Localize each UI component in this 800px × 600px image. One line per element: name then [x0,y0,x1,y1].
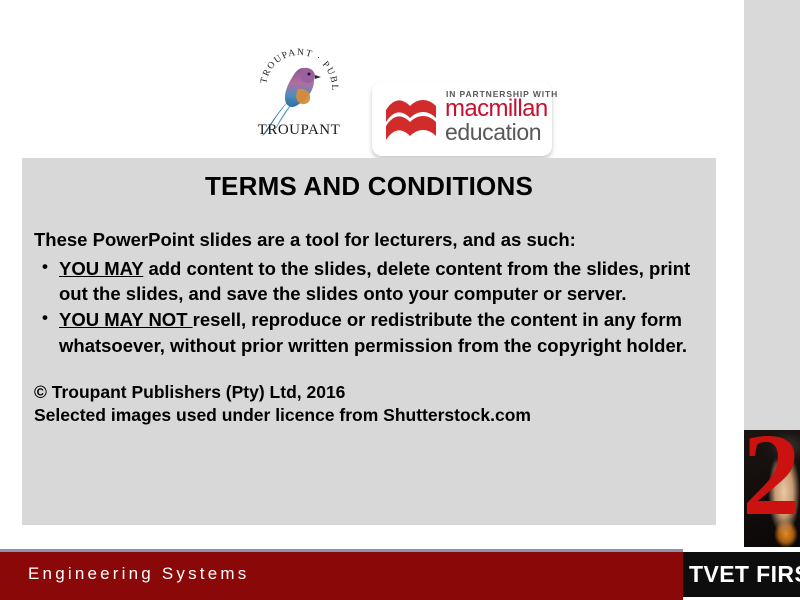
terms-bullet-list: •YOU MAY add content to the slides, dele… [22,252,716,358]
copyright-line: © Troupant Publishers (Pty) Ltd, 2016 [34,381,702,404]
troupant-bird-icon: TROUPANT · PUBLISHERS TROUPANT [246,46,352,142]
troupant-wordmark: TROUPANT [258,122,341,138]
macmillan-flag-icon [384,94,438,144]
list-item: •YOU MAY add content to the slides, dele… [34,256,698,307]
tvet-first-brand-box: TVET FIRST [683,552,800,597]
bullet-marker: • [42,306,48,329]
copyright-block: © Troupant Publishers (Pty) Ltd, 2016 Se… [22,359,716,427]
page-title: TERMS AND CONDITIONS [22,158,716,202]
cover-number: 2 [744,430,798,534]
bullet-lead-emphasis: YOU MAY [59,258,143,279]
cover-image-block: 2 [744,430,800,547]
logo-row: TROUPANT · PUBLISHERS TROUPANT IN PARTN [0,38,744,146]
intro-paragraph: These PowerPoint slides are a tool for l… [22,202,716,252]
bullet-lead-emphasis: YOU MAY NOT [59,309,193,330]
macmillan-name: macmillan [445,98,548,120]
footer-bar: Engineering Systems [0,552,683,600]
list-item: •YOU MAY NOT resell, reproduce or redist… [34,307,698,358]
macmillan-education-logo: IN PARTNERSHIP WITH macmillan education [372,82,552,156]
tvet-first-label: TVET FIRST [689,561,800,588]
bullet-body-text: add content to the slides, delete conten… [59,258,690,304]
bullet-marker: • [42,255,48,278]
image-licence-line: Selected images used under licence from … [34,404,702,427]
terms-and-conditions-panel: TERMS AND CONDITIONS These PowerPoint sl… [22,158,716,525]
footer-subject-label: Engineering Systems [28,564,249,584]
macmillan-subtitle: education [445,121,541,143]
troupant-publishers-logo: TROUPANT · PUBLISHERS TROUPANT [246,46,352,142]
